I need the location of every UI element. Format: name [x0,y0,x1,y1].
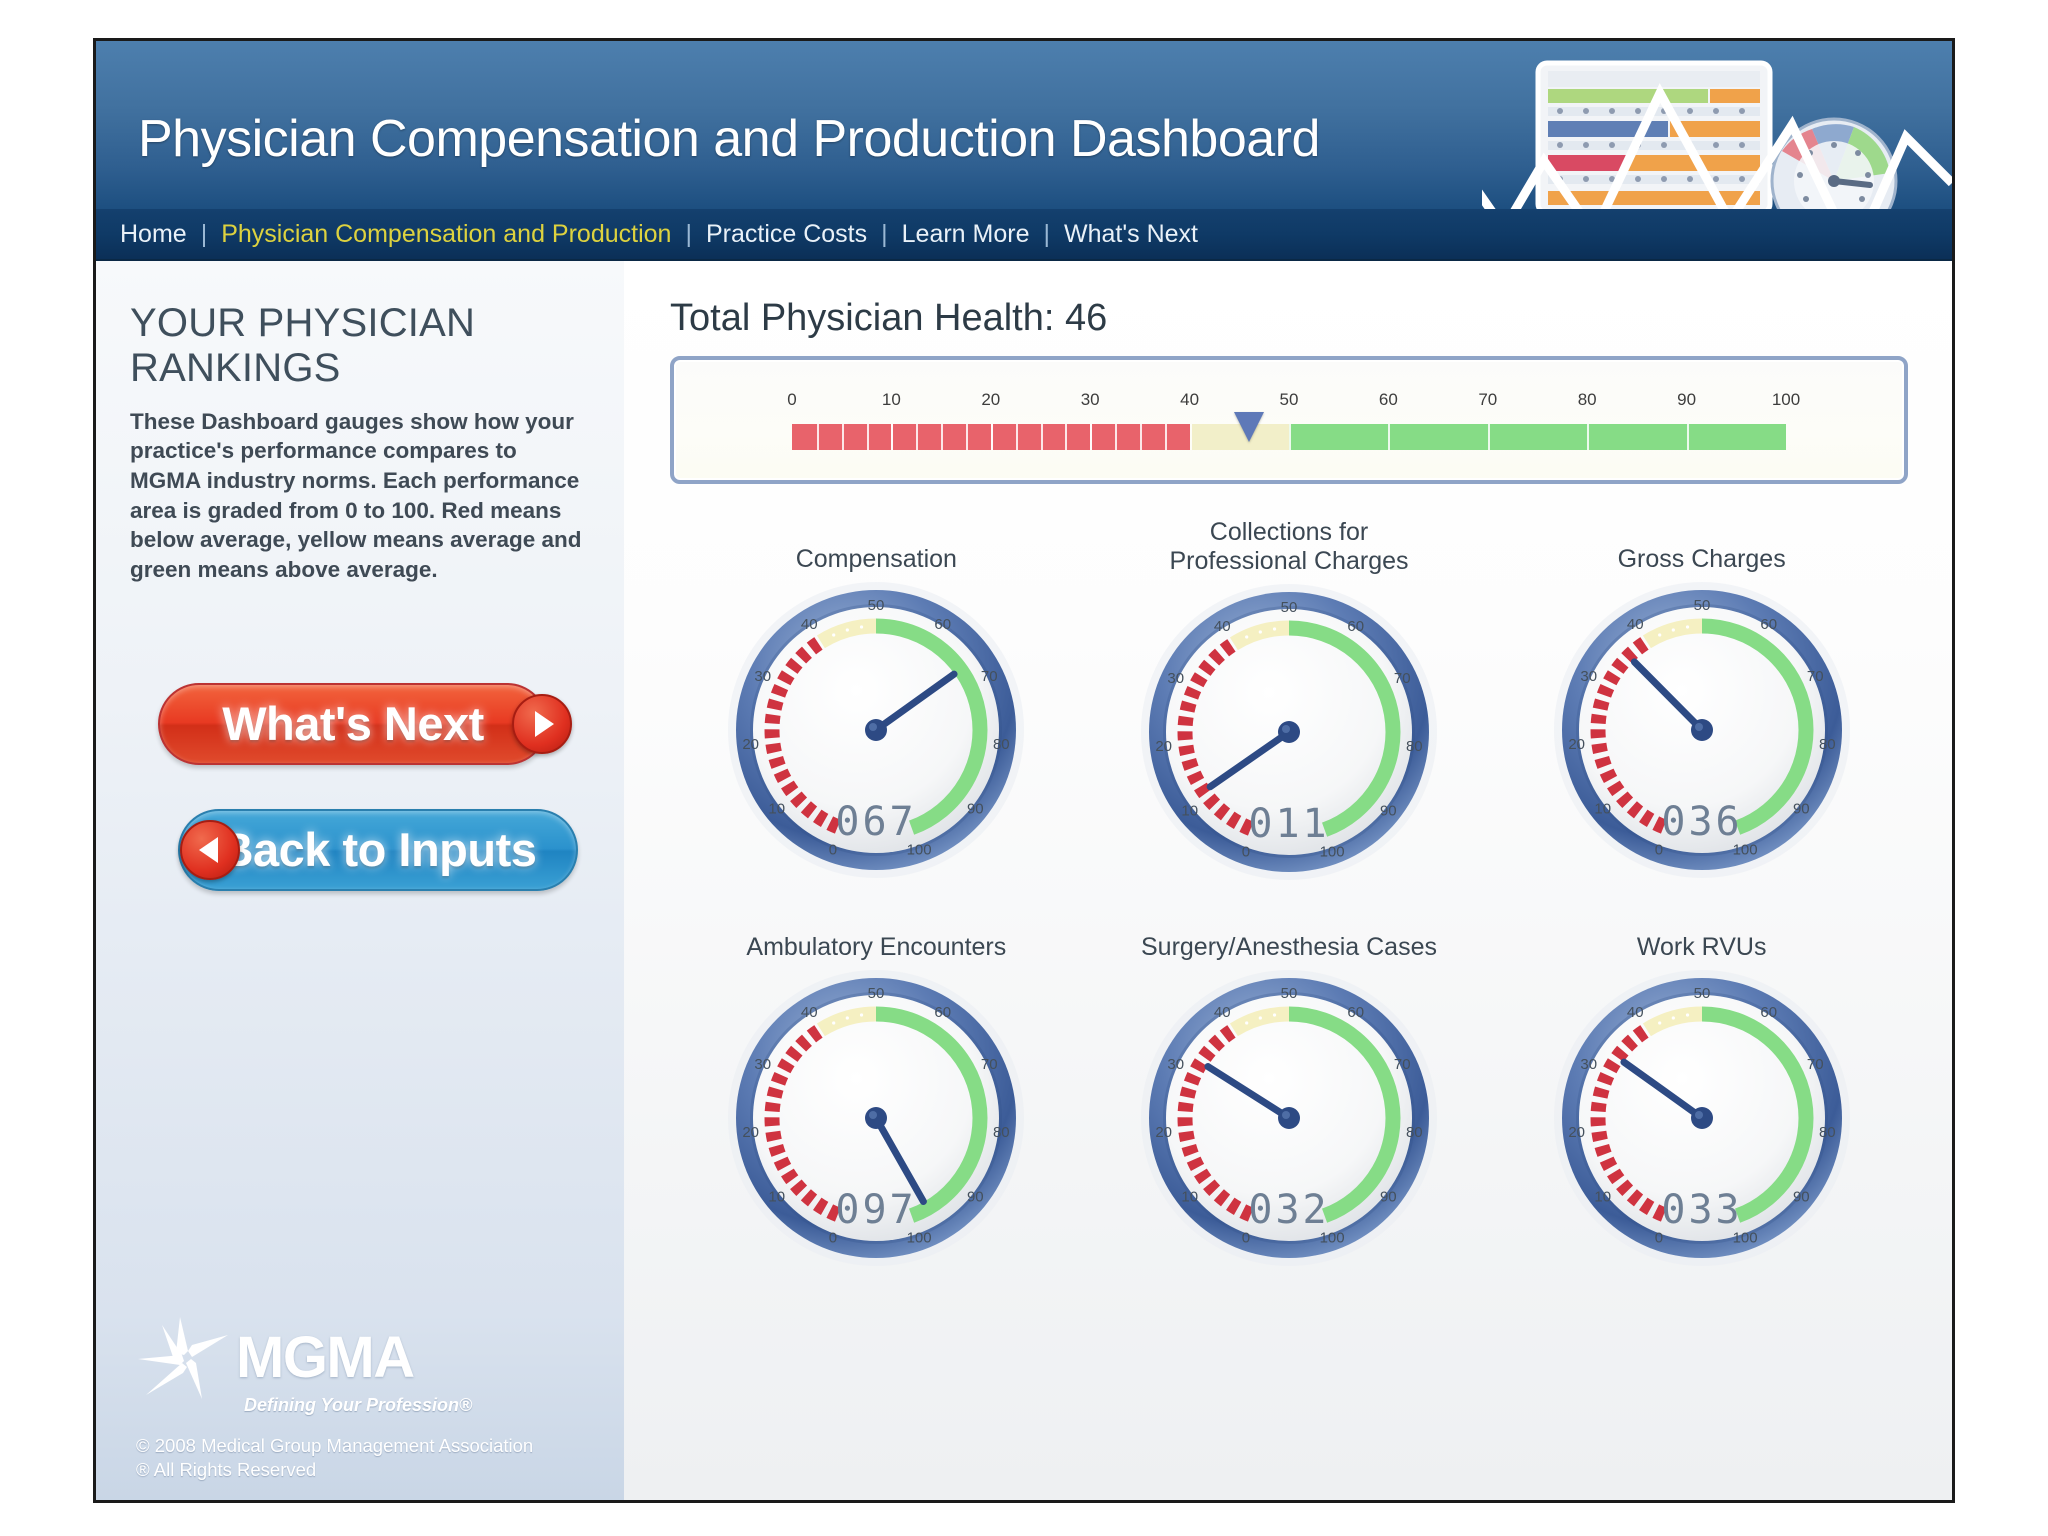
gauge-band-red-segment [781,772,785,780]
gauge-needle-hub [1278,721,1300,743]
gauge-caption-line: Work RVUs [1637,933,1767,962]
gauge-tick-label: 30 [1167,1055,1184,1072]
gauge-tick-label: 80 [1406,1124,1423,1141]
health-scale-tick-label: 0 [787,390,796,410]
gauge-tick-label: 20 [1155,738,1172,755]
gauge-tick-label: 70 [1807,668,1824,685]
gauge-tick-label: 90 [1380,1188,1397,1205]
gauge-band-red-segment [1230,1203,1237,1208]
nav-separator: | [869,220,900,249]
gauge-band-red-segment [1200,1172,1205,1179]
work-rvus-gauge: 0102030405060708090100033 [1495,968,1908,1268]
gauge-value-readout: 011 [1248,801,1329,847]
health-scale-tick [1388,424,1390,450]
page-body: YOUR PHYSICIAN RANKINGS These Dashboard … [96,261,1952,1500]
compensation-gauge-cell: Compensation 0102030405060708090100067 [670,518,1083,882]
gauge-band-red-segment [1219,808,1226,814]
compensation-gauge-caption: Compensation [670,518,1083,580]
health-scale-minor-tick [842,424,844,450]
gauge-band-red-segment [1204,1050,1209,1057]
total-physician-health-panel: 0102030405060708090100 [670,356,1908,484]
gauge-band-red-segment [778,687,781,695]
gauge-tick-label: 30 [1580,668,1597,685]
health-scale-minor-tick [966,424,968,450]
health-scale-minor-tick [1165,424,1167,450]
gauge-band-red-segment [788,1172,793,1179]
back-to-inputs-button-label: Back to Inputs [220,822,537,877]
main-content: Total Physician Health: 46 0102030405060… [624,261,1952,1500]
gauge-band-red-segment [784,1062,788,1070]
health-scale-minor-tick [1016,424,1018,450]
nav-separator: | [1032,220,1063,249]
dashboard-chart-gauge-graphic-icon [1482,41,1952,209]
gauge-tick-label: 40 [1214,618,1231,635]
work-rvus-gauge-cell: Work RVUs 0102030405060708090100033 [1495,906,1908,1268]
health-scale-tick [1687,424,1689,450]
gauge-tick-label: 50 [1281,599,1298,616]
gauge-band-red-segment [1191,689,1194,697]
surgery-anesthesia-cases-gauge-cell: Surgery/Anesthesia Cases 010203040506070… [1083,906,1496,1268]
health-scale-tick-label: 80 [1578,390,1597,410]
gauge-band-red-segment [784,674,788,682]
health-scale-minor-tick [1065,424,1067,450]
gauge-band-red-segment [1200,786,1205,793]
gauge-band-red-segment [781,1159,785,1167]
main-navigation[interactable]: Home | Physician Compensation and Produc… [96,209,1952,261]
gauge-band-red-segment [792,1050,797,1057]
gauge-band-divider [1259,630,1262,633]
gauge-band-divider [846,628,849,631]
gauge-band-red-segment [792,663,797,670]
gauge-band-divider [1245,635,1248,638]
gauge-band-red-segment [1598,715,1599,724]
gauge-band-red-segment [1626,652,1632,658]
gauge-band-divider [860,1013,863,1016]
gauge-band-red-segment [1224,1031,1231,1036]
mgma-logo: MGMA [136,1315,596,1401]
gauge-band-divider [1245,1021,1248,1024]
gauge-band-red-segment [1601,758,1604,766]
ambulatory-encounters-gauge-cell: Ambulatory Encounters 010203040506070809… [670,906,1083,1268]
health-scale-tick-label: 100 [1772,390,1800,410]
gauge-tick-label: 90 [967,1188,984,1205]
gauge-caption-line: Professional Charges [1169,547,1408,576]
gauge-band-red-segment [1609,1062,1613,1070]
dashboard-app-window: Physician Compensation and Production Da… [93,38,1955,1503]
collections-for-professional-charges-gauge: 0102030405060708090100011 [1083,582,1496,882]
gauge-band-red-segment [812,643,819,648]
gauge-band-red-segment [1643,1203,1650,1208]
gauge-tick-label: 60 [1760,1004,1777,1021]
gauge-needle-hub [1691,1107,1713,1129]
gauge-needle-hub-highlight [1695,723,1703,731]
gauge-band-red-segment [1209,1184,1215,1190]
health-scale-tick-label: 60 [1379,390,1398,410]
gauge-tick-label: 30 [1167,669,1184,686]
health-value-marker [1234,412,1264,442]
gauge-band-red-segment [1622,796,1628,802]
gauge-needle-hub-highlight [1282,725,1290,733]
gauge-tick-label: 80 [993,736,1010,753]
gauge-band-red-segment [773,715,774,724]
gauge-band-red-segment [1187,702,1189,710]
gauge-needle-hub-highlight [1282,1111,1290,1119]
gauge-band-red-segment [1613,784,1618,791]
gauge-tick-label: 20 [1568,1124,1585,1141]
gauge-band-red-segment [1609,674,1613,682]
gauge-band-red-segment [1224,645,1231,650]
gauge-tick-label: 40 [1627,1004,1644,1021]
gauge-band-red-segment [1214,654,1220,660]
health-scale-tick-label: 50 [1280,390,1299,410]
gauge-tick-label: 70 [981,1055,998,1072]
gauge-tick-label: 80 [1406,738,1423,755]
gauge-band-red-segment [774,1088,776,1096]
collections-for-professional-charges-gauge-cell: Collections forProfessional Charges 0102… [1083,518,1496,882]
gauge-band-red-segment [778,1075,781,1083]
gauge-tick-label: 40 [1627,616,1644,633]
gauge-tick-label: 80 [1819,736,1836,753]
gauge-tick-label: 40 [1214,1004,1231,1021]
gauge-band-red-segment [1598,1102,1599,1111]
health-scale-tick-label: 40 [1180,390,1199,410]
gauge-band-red-segment [1194,1159,1198,1167]
page-title: Physician Compensation and Production Da… [138,109,1320,169]
gauge-band-divider [846,1016,849,1019]
gauge-band-red-segment [1604,687,1607,695]
gauge-tick-label: 50 [1693,985,1710,1002]
health-scale-minor-tick [817,424,819,450]
gauge-band-red-segment [1617,1050,1622,1057]
gross-charges-gauge-caption: Gross Charges [1495,518,1908,580]
gauge-band-red-segment [1637,643,1644,648]
health-scale-minor-tick [1090,424,1092,450]
health-scale-tick-label: 30 [1081,390,1100,410]
health-scale-minor-tick [1041,424,1043,450]
gauge-tick-label: 50 [868,985,885,1002]
gauge-band-red-segment [1214,1040,1220,1046]
gauge-band-red-segment [806,1194,813,1200]
gauge-band-divider [1273,627,1276,630]
whats-next-button-wrap: What's Next [158,683,592,765]
health-scale-tick [1289,424,1291,450]
gauge-tick-label: 20 [743,1124,760,1141]
health-scale-tick [1488,424,1490,450]
gauge-band-red-segment [773,1131,775,1140]
gauge-tick-label: 20 [743,736,760,753]
gauge-band-red-segment [1197,1062,1201,1070]
gross-charges-gauge-cell: Gross Charges 0102030405060708090100036 [1495,518,1908,882]
ambulatory-encounters-gauge: 0102030405060708090100097 [670,968,1083,1268]
gauge-tick-label: 10 [769,801,786,818]
mgma-wordmark: MGMA [236,1324,414,1391]
gauge-band-red-segment [1600,1088,1602,1096]
gauge-band-red-segment [1599,1131,1601,1140]
gauge-band-red-segment [1219,1194,1226,1200]
health-scale-minor-tick [1115,424,1117,450]
gauge-band-red-segment [1643,816,1650,821]
copyright-line-1: © 2008 Medical Group Management Associat… [136,1434,596,1458]
gauge-band-red-segment [1191,1075,1194,1083]
chevron-right-icon[interactable] [512,694,572,754]
gauge-tick-label: 60 [1760,616,1777,633]
gauge-band-divider [1658,633,1661,636]
gauge-band-red-segment [1186,745,1188,754]
gauge-tick-label: 50 [1693,597,1710,614]
gauge-tick-label: 20 [1568,736,1585,753]
gauge-tick-label: 30 [755,1055,772,1072]
gauge-band-red-segment [776,1145,779,1153]
sidebar-description: These Dashboard gauges show how your pra… [130,407,592,585]
gauge-band-red-segment [1186,1131,1188,1140]
back-to-inputs-button[interactable]: Back to Inputs [178,809,578,891]
nav-item-physician-compensation-and-production[interactable]: Physician Compensation and Production [219,220,673,249]
health-scale-minor-tick [891,424,893,450]
gauge-tick-label: 90 [967,801,984,818]
health-scale-minor-tick [867,424,869,450]
gauge-band-red-segment [1606,772,1610,780]
gauge-band-red-segment [818,816,825,821]
nav-item-home[interactable]: Home [118,220,189,249]
gauge-tick-label: 10 [1181,1188,1198,1205]
gauge-tick-label: 60 [935,616,952,633]
gauge-band-divider [1259,1016,1262,1019]
gauge-band-red-segment [818,1203,825,1208]
gauge-needle-hub-highlight [1695,1111,1703,1119]
gauge-tick-label: 40 [801,1004,818,1021]
gauge-tick-label: 90 [1380,802,1397,819]
surgery-anesthesia-cases-gauge: 0102030405060708090100032 [1083,968,1496,1268]
whats-next-button[interactable]: What's Next [158,683,548,765]
gauge-band-red-segment [806,807,813,813]
gauge-band-red-segment [1600,701,1602,709]
gauge-tick-label: 50 [868,597,885,614]
gauge-band-red-segment [796,1184,802,1190]
sidebar-heading: YOUR PHYSICIAN RANKINGS [130,301,592,391]
gauge-tick-label: 50 [1281,985,1298,1002]
health-scale-tick-label: 20 [981,390,1000,410]
gauge-needle-hub [1278,1107,1300,1129]
copyright-line-2: ® All Rights Reserved [136,1458,596,1482]
gross-charges-gauge: 0102030405060708090100036 [1495,580,1908,880]
chevron-left-icon[interactable] [180,820,240,880]
health-scale-minor-tick [991,424,993,450]
sidebar: YOUR PHYSICIAN RANKINGS These Dashboard … [96,261,624,1500]
gauge-band-red-segment [1185,1102,1186,1111]
gauge-band-red-segment [1599,744,1601,753]
gauge-tick-label: 20 [1155,1124,1172,1141]
gauge-tick-label: 90 [1793,1188,1810,1205]
nav-item-whats-next[interactable]: What's Next [1062,220,1200,249]
health-scale: 0102030405060708090100 [792,390,1786,462]
gauge-band-red-segment [788,784,793,791]
health-scale-tick-label: 90 [1677,390,1696,410]
gauge-band-red-segment [1204,664,1209,671]
health-scale-minor-tick [916,424,918,450]
gauge-band-red-segment [801,652,807,658]
gauge-tick-label: 70 [1807,1055,1824,1072]
gauge-caption-line: Gross Charges [1618,545,1786,574]
gauge-band-divider [860,625,863,628]
gauge-needle-hub [1691,719,1713,741]
gauge-band-red-segment [1626,1040,1632,1046]
gauge-band-red-segment [1194,773,1198,781]
health-scale-tick [1587,424,1589,450]
nav-item-learn-more[interactable]: Learn More [900,220,1032,249]
gauge-value-readout: 097 [836,1187,917,1233]
gauge-band-red-segment [801,1040,807,1046]
health-scale-minor-tick [941,424,943,450]
gauge-caption-line: Surgery/Anesthesia Cases [1141,933,1437,962]
health-scale-tick-label: 10 [882,390,901,410]
gauge-band-red-segment [774,701,776,709]
gauge-value-readout: 036 [1661,799,1742,845]
surgery-anesthesia-cases-gauge-caption: Surgery/Anesthesia Cases [1083,906,1496,968]
gauge-needle-hub [865,1107,887,1129]
gauge-caption-line: Compensation [796,545,957,574]
gauge-band-red-segment [1613,1172,1618,1179]
gauge-band-red-segment [1187,1088,1189,1096]
mgma-branding: MGMA Defining Your Profession® © 2008 Me… [136,1315,596,1482]
gauge-caption-line: Collections for [1210,518,1368,547]
gauge-needle-hub-highlight [869,723,877,731]
gauge-band-red-segment [1197,676,1201,684]
gauge-band-red-segment [1601,1145,1604,1153]
gauge-tick-label: 10 [1594,801,1611,818]
gauge-tick-label: 80 [1819,1124,1836,1141]
gauge-value-readout: 033 [1661,1187,1742,1233]
health-band-above-average [1289,424,1786,450]
gauge-tick-label: 30 [755,668,772,685]
gauge-band-red-segment [1209,798,1215,804]
gauge-tick-label: 60 [1347,1004,1364,1021]
gauge-band-red-segment [1622,1184,1628,1190]
mgma-tagline: Defining Your Profession® [244,1395,596,1416]
gauge-band-red-segment [1606,1159,1610,1167]
gauge-value-readout: 032 [1248,1187,1329,1233]
gauge-tick-label: 10 [1181,802,1198,819]
gauge-tick-label: 10 [1594,1188,1611,1205]
health-scale-tick-label: 70 [1478,390,1497,410]
gauge-band-divider [1671,628,1674,631]
gauge-band-red-segment [796,796,802,802]
gauge-band-divider [1686,625,1689,628]
gauge-tick-label: 60 [1347,618,1364,635]
copyright-notice: © 2008 Medical Group Management Associat… [136,1434,596,1482]
gauge-caption-line: Ambulatory Encounters [746,933,1006,962]
gauge-band-red-segment [1185,716,1186,725]
gauge-band-divider [832,633,835,636]
back-to-inputs-button-wrap: Back to Inputs [140,809,592,891]
gauge-band-red-segment [776,758,779,766]
gauge-band-red-segment [812,1031,819,1036]
gauge-tick-label: 30 [1580,1055,1597,1072]
gauge-tick-label: 60 [935,1004,952,1021]
nav-separator: | [189,220,220,249]
gauge-value-readout: 067 [836,799,917,845]
gauge-band-red-segment [1189,759,1192,767]
gauge-band-red-segment [1632,807,1639,813]
nav-separator: | [673,220,704,249]
gauge-tick-label: 70 [981,668,998,685]
gauge-band-red-segment [773,1102,774,1111]
gauge-band-red-segment [1632,1194,1639,1200]
total-physician-health-title: Total Physician Health: 46 [670,297,1908,340]
compensation-gauge: 0102030405060708090100067 [670,580,1083,880]
gauge-needle-hub [865,719,887,741]
work-rvus-gauge-caption: Work RVUs [1495,906,1908,968]
gauge-tick-label: 80 [993,1124,1010,1141]
gauge-band-divider [1686,1013,1689,1016]
gauge-needle-hub-highlight [869,1111,877,1119]
gauge-tick-label: 70 [1394,669,1411,686]
gauge-band-red-segment [1230,817,1237,822]
nav-item-practice-costs[interactable]: Practice Costs [704,220,869,249]
gauge-band-red-segment [1189,1145,1192,1153]
gauge-tick-label: 90 [1793,801,1810,818]
gauge-tick-label: 70 [1394,1055,1411,1072]
collections-for-professional-charges-gauge-caption: Collections forProfessional Charges [1083,518,1496,582]
gauge-band-red-segment [773,744,775,753]
ambulatory-encounters-gauge-caption: Ambulatory Encounters [670,906,1083,968]
mgma-starburst-icon [136,1315,232,1401]
gauge-band-divider [1658,1021,1661,1024]
gauge-tick-label: 40 [801,616,818,633]
health-scale-bar [792,424,1786,450]
gauge-grid: Compensation 0102030405060708090100067Co… [670,518,1908,1268]
gauge-band-red-segment [1637,1031,1644,1036]
gauge-band-divider [832,1021,835,1024]
health-scale-tick [1190,424,1192,450]
gauge-tick-label: 10 [769,1188,786,1205]
gauge-band-divider [1273,1013,1276,1016]
app-header: Physician Compensation and Production Da… [96,41,1952,209]
gauge-band-red-segment [1617,663,1622,670]
gauge-band-red-segment [1604,1075,1607,1083]
whats-next-button-label: What's Next [222,696,484,751]
health-scale-minor-tick [1140,424,1142,450]
gauge-band-divider [1671,1016,1674,1019]
